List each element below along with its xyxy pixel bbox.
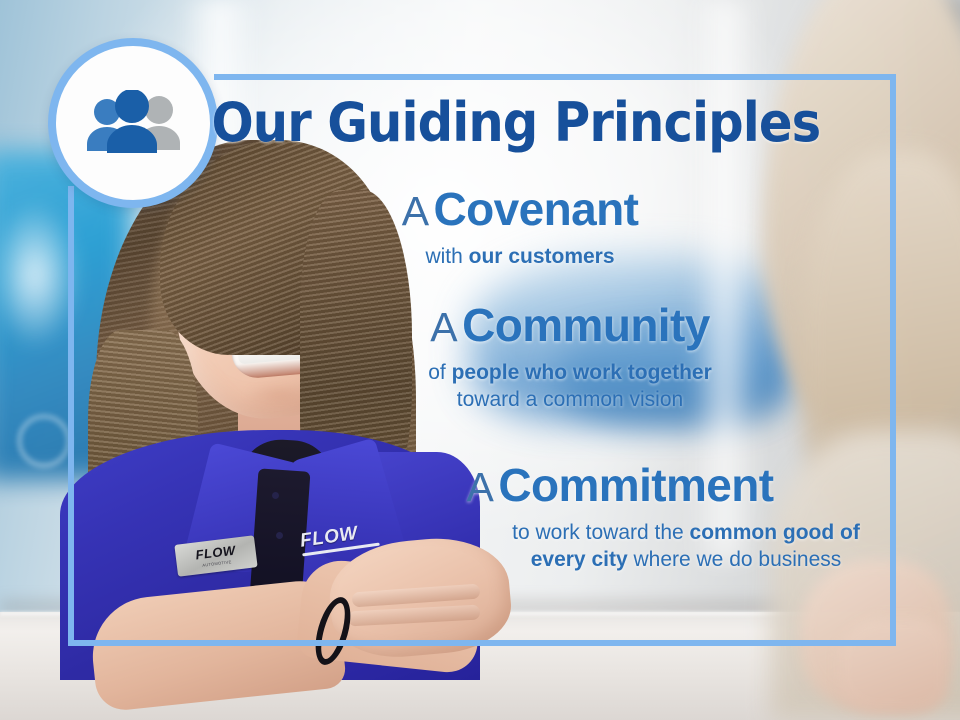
principle-community-sub: of people who work together toward a com… (300, 359, 840, 414)
community-sub-line2: toward a common vision (457, 388, 683, 411)
covenant-article: A (402, 188, 429, 234)
customer-fingers (838, 618, 948, 713)
guiding-principles-graphic: FLOW AUTOMOTIVE FLOW O (0, 0, 960, 720)
page-title: Our Guiding Principles (38, 96, 921, 150)
covenant-sub-normal: with (425, 245, 468, 268)
principle-covenant: A Covenant with our customers (250, 186, 790, 270)
principle-covenant-headline: A Covenant (250, 186, 790, 234)
commitment-sub-normal-a: to work toward the (512, 521, 689, 544)
community-sub-normal: of (428, 361, 451, 384)
community-word: Community (462, 299, 710, 351)
principle-commitment: A Commitment to work toward the common g… (340, 462, 900, 573)
commitment-sub-normal-b: where (628, 548, 691, 571)
principle-commitment-headline: A Commitment (340, 462, 900, 510)
principle-community: A Community of people who work together … (300, 302, 840, 413)
display-glow (0, 200, 80, 350)
blurred-car-emblem-icon (18, 415, 70, 467)
shirt-button-bottom (276, 532, 283, 539)
commitment-article: A (467, 464, 494, 510)
principle-commitment-sub: to work toward the common good of every … (486, 519, 886, 574)
commitment-sub-bold-a: common (690, 521, 778, 544)
principle-community-headline: A Community (300, 302, 840, 350)
shirt-button-top (272, 492, 279, 499)
covenant-sub-bold: our customers (469, 245, 615, 268)
principle-covenant-sub: with our customers (250, 243, 790, 270)
community-article: A (430, 304, 457, 350)
community-sub-bold: people who work together (452, 361, 712, 384)
commitment-word: Commitment (498, 459, 773, 511)
commitment-sub-normal-c: we do business (697, 548, 842, 571)
covenant-word: Covenant (434, 183, 639, 235)
